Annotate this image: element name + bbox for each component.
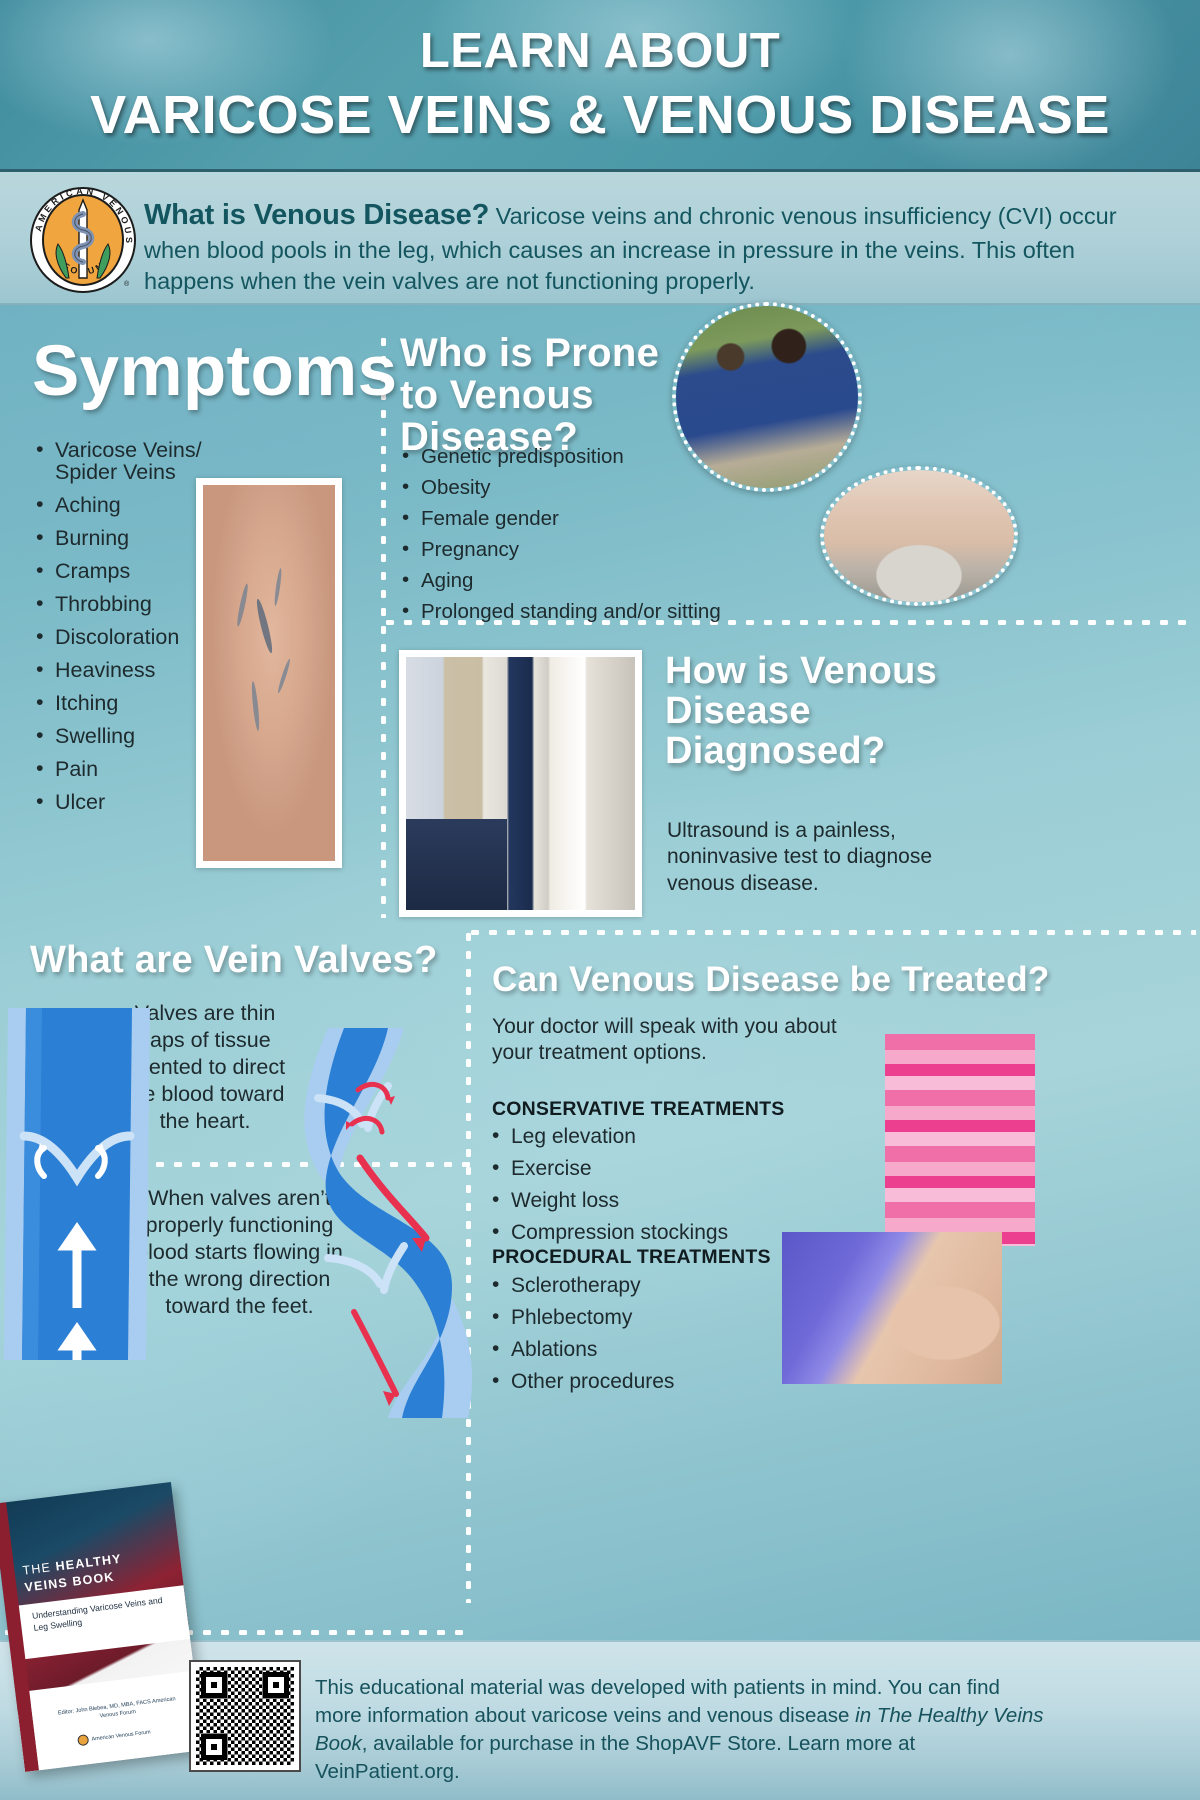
list-item: Varicose Veins/ Spider Veins	[36, 440, 236, 483]
intro-question: What is Venous Disease?	[144, 199, 489, 231]
conservative-treatments-heading: CONSERVATIVE TREATMENTS	[492, 1098, 784, 1121]
ultrasound-dark-area	[406, 819, 507, 910]
compression-stockings-photo	[885, 1034, 1035, 1246]
page-title-line2: VARICOSE VEINS & VENOUS DISEASE	[0, 76, 1200, 142]
procedural-treatments-list: Sclerotherapy Phlebectomy Ablations Othe…	[492, 1275, 792, 1403]
list-item: Exercise	[492, 1158, 792, 1179]
divider-vertical-left	[381, 333, 386, 918]
footer-text-part2: , available for purchase in the ShopAVF …	[315, 1732, 915, 1783]
divider-horizontal-treated	[466, 930, 1196, 935]
list-item: Aging	[402, 571, 782, 592]
sclerotherapy-injection-photo	[782, 1232, 1002, 1384]
healthy-vein-valve-diagram	[0, 1008, 160, 1360]
list-item: Weight loss	[492, 1190, 792, 1211]
procedural-treatments-heading: PROCEDURAL TREATMENTS	[492, 1246, 771, 1269]
treatment-heading: Can Venous Disease be Treated?	[492, 962, 1050, 999]
prone-heading: Who is Prone to Venous Disease?	[400, 332, 690, 458]
list-item: Prolonged standing and/or sitting	[402, 602, 782, 623]
scale-image	[824, 470, 1014, 602]
couple-image	[676, 306, 858, 488]
infographic-page: LEARN ABOUT VARICOSE VEINS & VENOUS DISE…	[0, 0, 1200, 1800]
american-venous-forum-logo: AMERICAN VENOUS FORUM ®	[28, 186, 138, 294]
varicose-vein-leg-photo	[196, 478, 342, 868]
failing-vein-valve-diagram	[292, 1028, 472, 1418]
footer-text: This educational material was developed …	[315, 1674, 1045, 1786]
list-item: Leg elevation	[492, 1126, 792, 1147]
list-item: Phlebectomy	[492, 1307, 792, 1328]
ultrasound-image	[406, 657, 635, 910]
list-item: Pregnancy	[402, 540, 782, 561]
intro-bar: AMERICAN VENOUS FORUM ® What is Venous D…	[0, 172, 1200, 305]
leg-image	[203, 485, 335, 861]
list-item: Other procedures	[492, 1371, 792, 1392]
symptoms-heading: Symptoms	[32, 335, 397, 410]
list-item: Compression stockings	[492, 1222, 792, 1243]
healthy-veins-book-cover: THE HEALTHY VEINS BOOK Understanding Var…	[0, 1482, 204, 1772]
valves-heading: What are Vein Valves?	[30, 941, 438, 981]
qr-eye-bottom-left	[201, 1734, 227, 1760]
qr-code[interactable]	[189, 1660, 301, 1772]
book-title-part1: THE	[22, 1560, 57, 1578]
feet-on-scale-photo	[820, 466, 1018, 606]
list-item: Female gender	[402, 509, 782, 530]
stockings-image	[885, 1034, 1035, 1246]
list-item: Sclerotherapy	[492, 1275, 792, 1296]
diagnosis-heading: How is Venous Disease Diagnosed?	[665, 652, 965, 772]
qr-eye-top-right	[263, 1672, 289, 1698]
diagnosis-text: Ultrasound is a painless, noninvasive te…	[667, 818, 967, 897]
treatment-intro: Your doctor will speak with you about yo…	[492, 1014, 882, 1067]
ultrasound-exam-photo	[399, 650, 642, 917]
conservative-treatments-list: Leg elevation Exercise Weight loss Compr…	[492, 1126, 792, 1254]
intro-paragraph: What is Venous Disease? Varicose veins a…	[144, 196, 1164, 298]
pregnant-couple-photo	[672, 302, 862, 492]
injection-image	[782, 1232, 1002, 1384]
avf-logo-icon	[77, 1734, 89, 1746]
registered-mark: ®	[124, 280, 130, 288]
qr-eye-top-left	[201, 1672, 227, 1698]
page-title-line1: LEARN ABOUT	[0, 0, 1200, 76]
list-item: Ablations	[492, 1339, 792, 1360]
header-banner: LEARN ABOUT VARICOSE VEINS & VENOUS DISE…	[0, 0, 1200, 172]
